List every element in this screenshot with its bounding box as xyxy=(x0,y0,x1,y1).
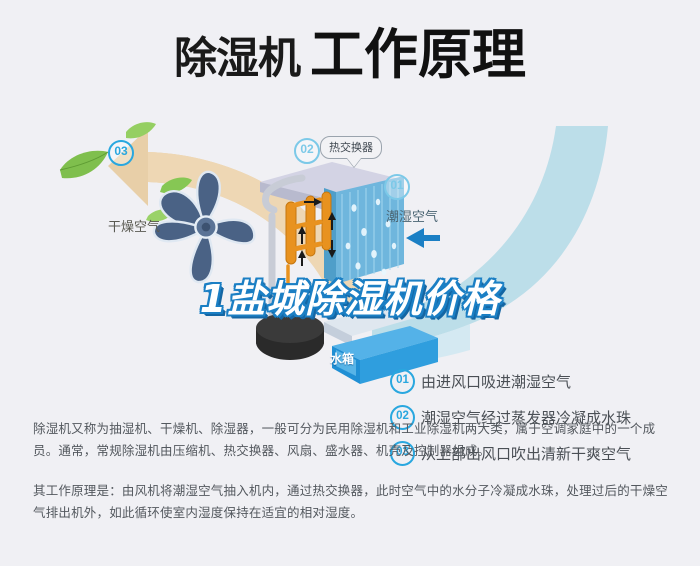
legend-label: 由进风口吸进潮湿空气 xyxy=(421,369,571,395)
title-part-product: 除湿机 xyxy=(174,34,300,84)
title-part-principle: 工作原理 xyxy=(310,23,526,86)
badge-03-dry-air: 03 xyxy=(108,140,134,166)
badge-02-heat-exchanger: 02 xyxy=(294,138,320,164)
legend-item: 01由进风口吸进潮湿空气 xyxy=(390,368,690,404)
badge-01-humid-air: 01 xyxy=(384,174,410,200)
description-block: 除湿机又称为抽湿机、干燥机、除湿器，一般可分为民用除湿机和工业除湿机两大类，属于… xyxy=(33,418,673,524)
description-paragraph-2: 其工作原理是：由风机将潮湿空气抽入机内，通过热交换器，此时空气中的水分子冷凝成水… xyxy=(33,480,673,524)
legend-number: 01 xyxy=(390,369,415,394)
callout-heat-exchanger: 热交换器 xyxy=(320,136,382,159)
label-water-tank: 水箱 xyxy=(330,350,354,367)
description-paragraph-1: 除湿机又称为抽湿机、干燥机、除湿器，一般可分为民用除湿机和工业除湿机两大类，属于… xyxy=(33,418,673,462)
diagram-illustration: 03 干燥空气 01 潮湿空气 02 热交换器 水箱 01由进风口吸进潮湿空气 … xyxy=(0,118,700,403)
infographic-page: 除湿机工作原理 xyxy=(0,0,700,566)
label-humid-air: 潮湿空气 xyxy=(386,206,438,225)
page-title: 除湿机工作原理 xyxy=(0,28,700,82)
label-dry-air: 干燥空气 xyxy=(108,216,160,235)
